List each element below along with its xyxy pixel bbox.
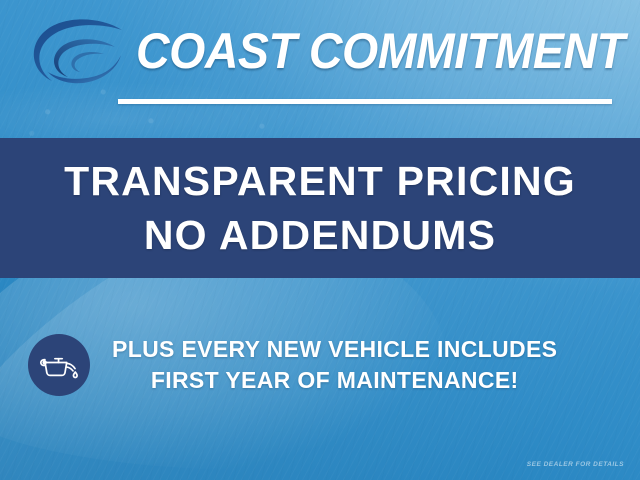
promo-line-1: PLUS EVERY NEW VEHICLE INCLUDES	[112, 336, 557, 362]
coast-commitment-banner: COAST COMMITMENT TRANSPARENT PRICING NO …	[0, 0, 640, 480]
page-title: COAST COMMITMENT	[136, 18, 582, 84]
oil-can-icon	[39, 350, 79, 381]
headline-band: TRANSPARENT PRICING NO ADDENDUMS	[0, 138, 640, 278]
fine-print-disclaimer: SEE DEALER FOR DETAILS	[527, 461, 624, 468]
oil-can-badge	[28, 334, 90, 396]
banner-header: COAST COMMITMENT	[0, 0, 640, 100]
promo-text: PLUS EVERY NEW VEHICLE INCLUDES FIRST YE…	[112, 334, 557, 396]
headline-line-1: TRANSPARENT PRICING	[64, 155, 576, 207]
wave-swirl-logo-icon	[22, 14, 128, 88]
promo-row: PLUS EVERY NEW VEHICLE INCLUDES FIRST YE…	[0, 325, 640, 405]
promo-line-2: FIRST YEAR OF MAINTENANCE!	[112, 365, 557, 396]
headline-line-2: NO ADDENDUMS	[144, 209, 496, 261]
header-divider-rule	[118, 99, 612, 104]
